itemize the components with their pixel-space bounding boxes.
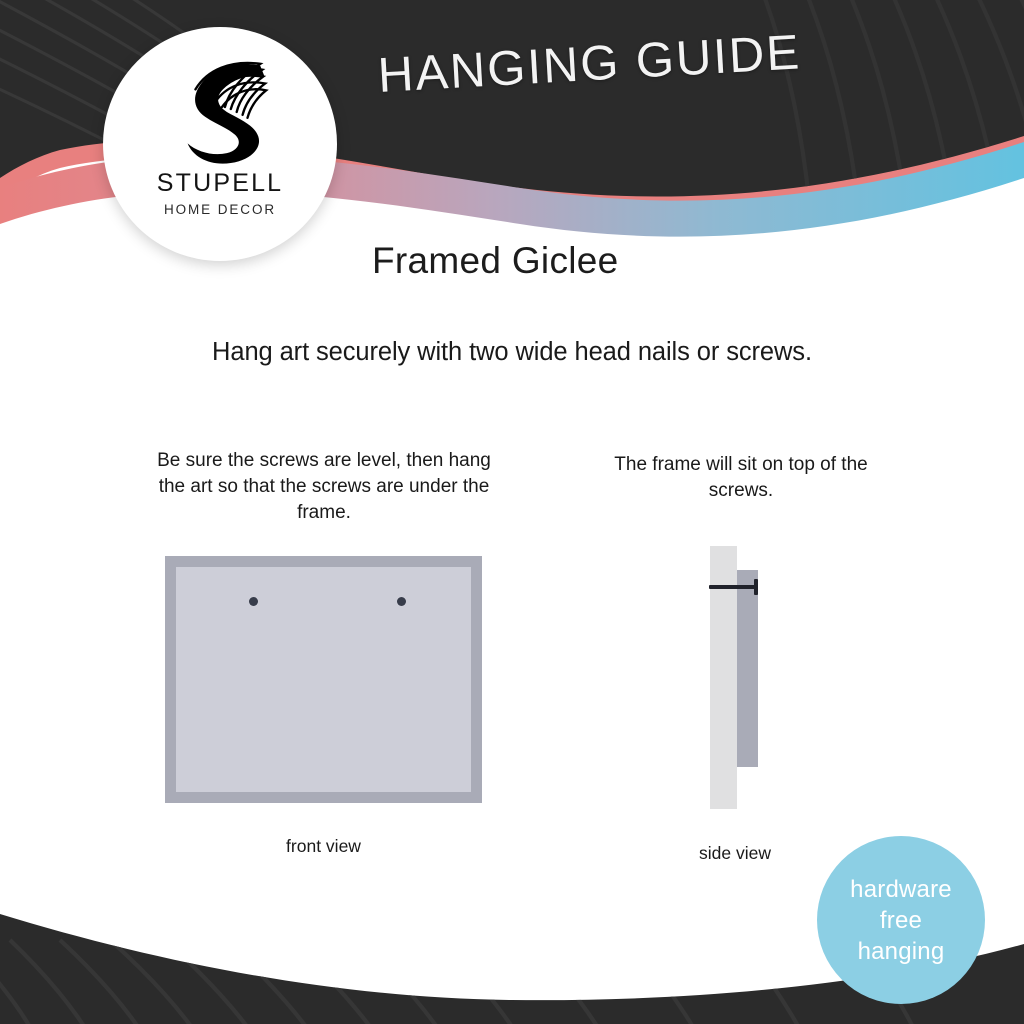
badge-line-3: hanging	[858, 936, 945, 967]
hanging-guide-page: STUPELL HOME DECOR HANGING GUIDE Framed …	[0, 0, 1024, 1024]
badge-line-1: hardware	[850, 874, 952, 905]
side-view-nail-head-icon	[754, 579, 758, 595]
side-view-caption: The frame will sit on top of the screws.	[595, 452, 887, 504]
front-view-screw-right	[397, 597, 406, 606]
logo-wordmark: STUPELL	[157, 171, 284, 196]
side-view-frame	[737, 570, 758, 767]
side-view-nail-shaft-icon	[709, 585, 757, 589]
hardware-free-hanging-badge: hardware free hanging	[817, 836, 985, 1004]
side-view-frame-diagram	[710, 546, 790, 816]
main-instruction-text: Hang art securely with two wide head nai…	[0, 338, 1024, 367]
front-view-label: front view	[165, 836, 482, 857]
logo-subwordmark: HOME DECOR	[164, 203, 276, 217]
front-view-screw-left	[249, 597, 258, 606]
stupell-logo-badge: STUPELL HOME DECOR	[103, 27, 337, 261]
front-view-frame-diagram	[165, 556, 482, 803]
badge-line-2: free	[880, 905, 922, 936]
side-view-label: side view	[655, 843, 815, 864]
front-view-mat-area	[176, 567, 471, 792]
front-view-caption: Be sure the screws are level, then hang …	[150, 448, 498, 526]
stupell-swoosh-logo-icon	[166, 49, 274, 169]
product-type-heading: Framed Giclee	[372, 240, 619, 282]
